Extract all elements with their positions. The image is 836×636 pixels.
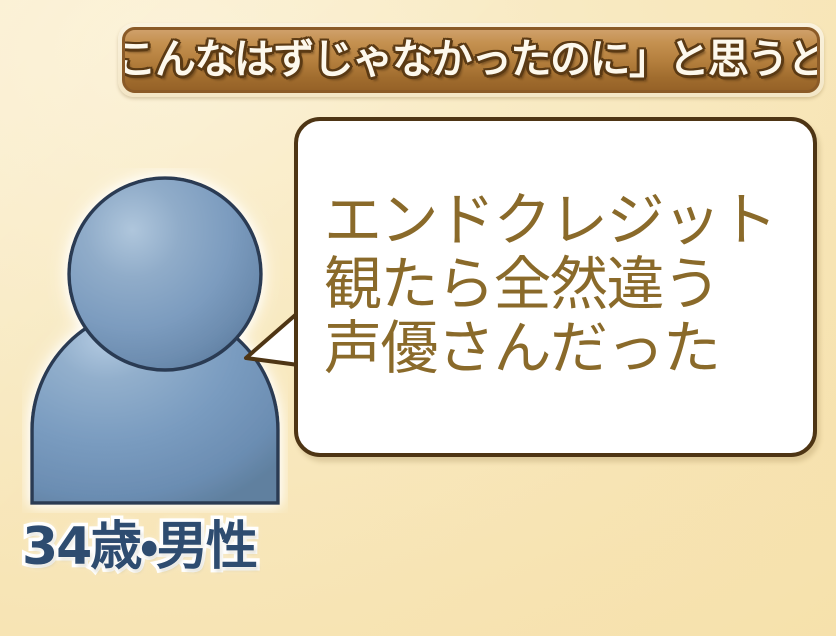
speech-bubble-line-3: 声優さんだった <box>324 317 791 381</box>
avatar-caption-text: 34歳・男性 <box>22 521 256 573</box>
avatar-head <box>69 178 261 370</box>
speech-bubble-line-2: 観たら全然違う <box>324 253 791 317</box>
header-banner: 「こんなはずじゃなかったのに」と思うとき <box>118 23 824 97</box>
avatar-caption: 34歳・男性 <box>22 508 312 586</box>
screenshot-stage: 「こんなはずじゃなかったのに」と思うとき <box>0 0 836 636</box>
speech-bubble-line-1: エンドクレジット <box>324 189 791 253</box>
speech-bubble: エンドクレジット 観たら全然違う 声優さんだった <box>294 117 817 457</box>
header-banner-title: 「こんなはずじゃなかったのに」と思うとき <box>122 39 820 80</box>
header-banner-inner: 「こんなはずじゃなかったのに」と思うとき <box>122 27 820 93</box>
